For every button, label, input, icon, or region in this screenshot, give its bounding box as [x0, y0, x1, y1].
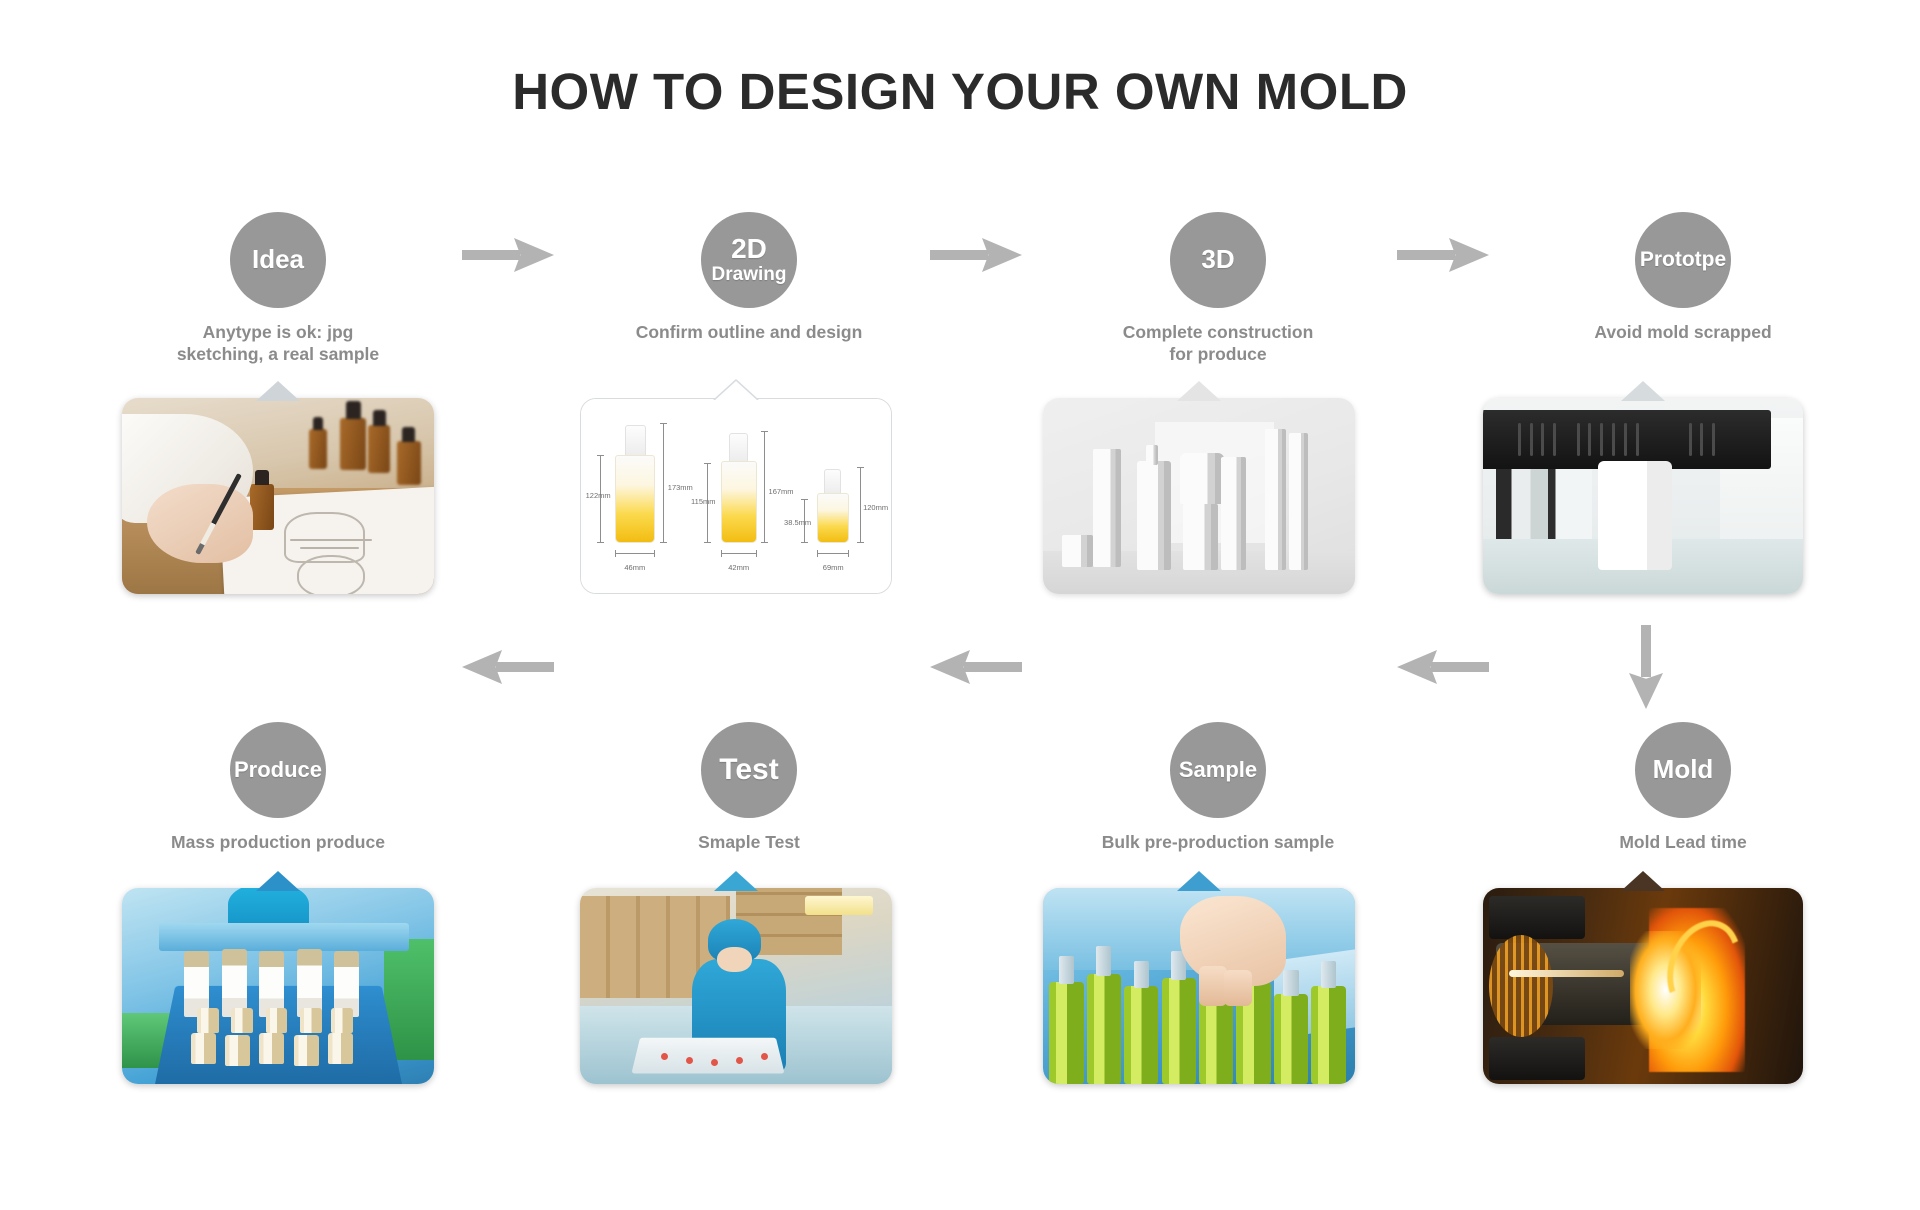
step-badge-label: Test [719, 754, 778, 786]
caption-line-1: Smaple Test [594, 831, 904, 853]
drawing-bottle-3 [817, 469, 849, 543]
card-pointer [256, 871, 300, 891]
step-caption-2d-drawing: Confirm outline and design [594, 321, 904, 343]
card-frame [122, 888, 434, 1084]
caption-line-1: Complete construction [1063, 321, 1373, 343]
caption-line-1: Bulk pre-production sample [1063, 831, 1373, 853]
step-image-test[interactable] [580, 888, 892, 1084]
caption-line-1: Anytype is ok: jpg [123, 321, 433, 343]
card-pointer [256, 381, 300, 401]
arrow-3d-to-prototype [1397, 238, 1489, 272]
step-caption-3d: Complete construction for produce [1063, 321, 1373, 366]
scene-3d-render [1043, 398, 1355, 594]
card-frame [1043, 888, 1355, 1084]
arrow-prototype-to-mold [1629, 625, 1663, 709]
step-caption-test: Smaple Test [594, 831, 904, 853]
dim-bottle-1-body: 122mm [586, 491, 611, 500]
card-frame [122, 398, 434, 594]
step-badge-label: Sample [1179, 758, 1257, 781]
step-2d-drawing[interactable]: 2D Drawing Confirm outline and design [594, 212, 904, 343]
card-frame [1483, 888, 1803, 1084]
step-image-prototype[interactable] [1483, 398, 1803, 594]
step-badge-mold[interactable]: Mold [1635, 722, 1731, 818]
scene-2d-technical-drawing: 122mm 173mm 46mm 115mm 167mm 42mm [581, 399, 891, 593]
step-prototype[interactable]: Prototpe Avoid mold scrapped [1528, 212, 1838, 343]
scene-sketching [122, 398, 434, 594]
card-pointer [714, 871, 758, 891]
step-caption-produce: Mass production produce [123, 831, 433, 853]
arrow-test-to-produce [462, 650, 554, 684]
step-badge-label: Produce [234, 758, 322, 781]
arrow-idea-to-2d [462, 238, 554, 272]
dim-bottle-3-body: 38.5mm [784, 518, 811, 527]
step-badge-sample[interactable]: Sample [1170, 722, 1266, 818]
step-caption-idea: Anytype is ok: jpg sketching, a real sam… [123, 321, 433, 366]
infographic-page: HOW TO DESIGN YOUR OWN MOLD Idea Anytype… [0, 0, 1920, 1210]
card-pointer [714, 381, 758, 401]
card-pointer [1621, 381, 1665, 401]
caption-line-1: Mold Lead time [1528, 831, 1838, 853]
step-produce[interactable]: Produce Mass production produce [123, 722, 433, 853]
arrow-sample-to-test [930, 650, 1022, 684]
step-badge-label: Prototpe [1640, 249, 1726, 271]
step-badge-2d-drawing[interactable]: 2D Drawing [701, 212, 797, 308]
scene-mold-flame [1483, 888, 1803, 1084]
step-badge-idea[interactable]: Idea [230, 212, 326, 308]
drawing-bottle-2 [721, 433, 757, 543]
step-image-mold[interactable] [1483, 888, 1803, 1084]
step-badge-label: 3D [1201, 246, 1234, 273]
dim-bottle-2-total: 167mm [769, 487, 794, 496]
arrow-2d-to-3d [930, 238, 1022, 272]
step-badge-sublabel: Drawing [712, 265, 787, 286]
step-sample[interactable]: Sample Bulk pre-production sample [1063, 722, 1373, 853]
card-pointer [1177, 381, 1221, 401]
dim-bottle-3-width: 69mm [823, 563, 844, 572]
step-idea[interactable]: Idea Anytype is ok: jpg sketching, a rea… [123, 212, 433, 366]
card-frame [1043, 398, 1355, 594]
card-pointer [1621, 871, 1665, 891]
step-caption-mold: Mold Lead time [1528, 831, 1838, 853]
scene-sample-test [580, 888, 892, 1084]
dim-bottle-2-width: 42mm [728, 563, 749, 572]
step-caption-prototype: Avoid mold scrapped [1528, 321, 1838, 343]
scene-production-line [122, 888, 434, 1084]
dim-bottle-1-width: 46mm [624, 563, 645, 572]
step-mold[interactable]: Mold Mold Lead time [1528, 722, 1838, 853]
caption-line-1: Mass production produce [123, 831, 433, 853]
page-title: HOW TO DESIGN YOUR OWN MOLD [0, 62, 1920, 121]
step-badge-label: Idea [252, 246, 304, 273]
arrow-mold-to-sample [1397, 650, 1489, 684]
step-caption-sample: Bulk pre-production sample [1063, 831, 1373, 853]
step-badge-prototype[interactable]: Prototpe [1635, 212, 1731, 308]
caption-line-1: Avoid mold scrapped [1528, 321, 1838, 343]
card-pointer [1177, 871, 1221, 891]
caption-line-2: for produce [1063, 343, 1373, 365]
dim-bottle-1-total: 173mm [668, 483, 693, 492]
step-badge-test[interactable]: Test [701, 722, 797, 818]
step-badge-produce[interactable]: Produce [230, 722, 326, 818]
scene-bulk-sample [1043, 888, 1355, 1084]
step-image-2d-drawing[interactable]: 122mm 173mm 46mm 115mm 167mm 42mm [580, 398, 892, 594]
step-badge-label: 2D [731, 234, 767, 263]
card-frame [1483, 398, 1803, 594]
caption-line-1: Confirm outline and design [594, 321, 904, 343]
step-image-produce[interactable] [122, 888, 434, 1084]
card-frame [580, 888, 892, 1084]
dim-bottle-2-body: 115mm [691, 497, 715, 506]
step-image-idea[interactable] [122, 398, 434, 594]
step-test[interactable]: Test Smaple Test [594, 722, 904, 853]
step-badge-3d[interactable]: 3D [1170, 212, 1266, 308]
step-badge-label: Mold [1653, 756, 1714, 783]
scene-3d-printer [1483, 398, 1803, 594]
step-image-3d[interactable] [1043, 398, 1355, 594]
caption-line-2: sketching, a real sample [123, 343, 433, 365]
step-image-sample[interactable] [1043, 888, 1355, 1084]
card-frame: 122mm 173mm 46mm 115mm 167mm 42mm [580, 398, 892, 594]
drawing-bottle-1 [615, 425, 655, 543]
dim-bottle-3-total: 120mm [863, 503, 888, 512]
step-3d[interactable]: 3D Complete construction for produce [1063, 212, 1373, 366]
